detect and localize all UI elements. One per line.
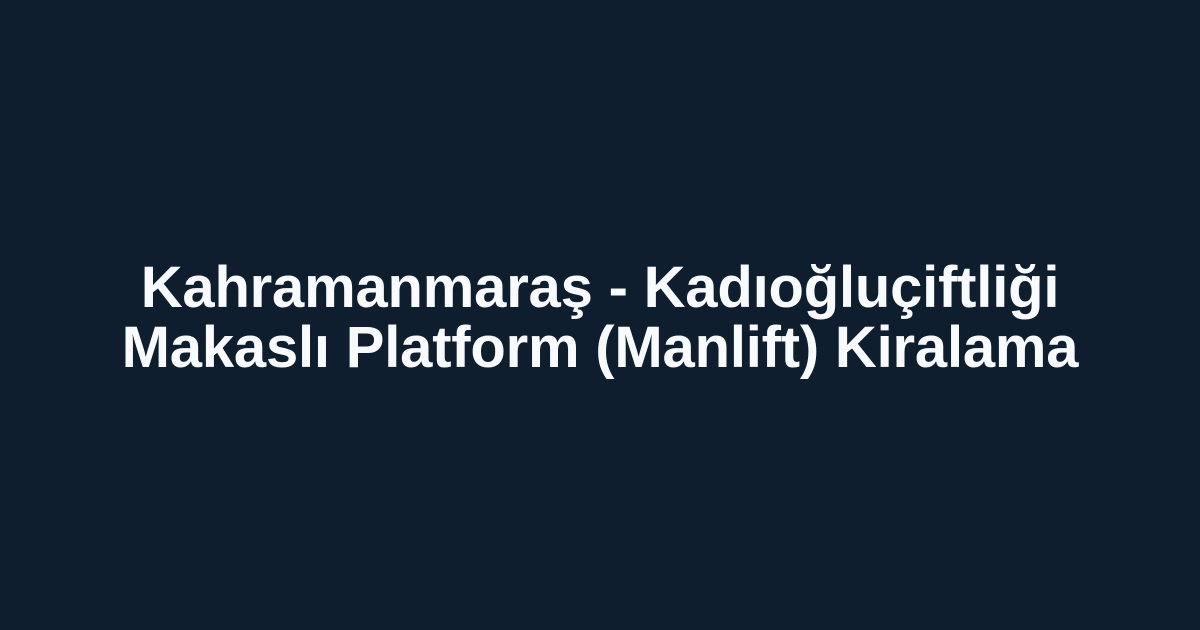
title-line-location: Kahramanmaraş - Kadıoğluçiftliği bbox=[95, 258, 1105, 318]
page-title: Kahramanmaraş - Kadıoğluçiftliği Makaslı… bbox=[95, 258, 1105, 378]
title-line-service: Makaslı Platform (Manlift) Kiralama bbox=[95, 318, 1105, 378]
og-preview-card: Kahramanmaraş - Kadıoğluçiftliği Makaslı… bbox=[0, 0, 1200, 630]
